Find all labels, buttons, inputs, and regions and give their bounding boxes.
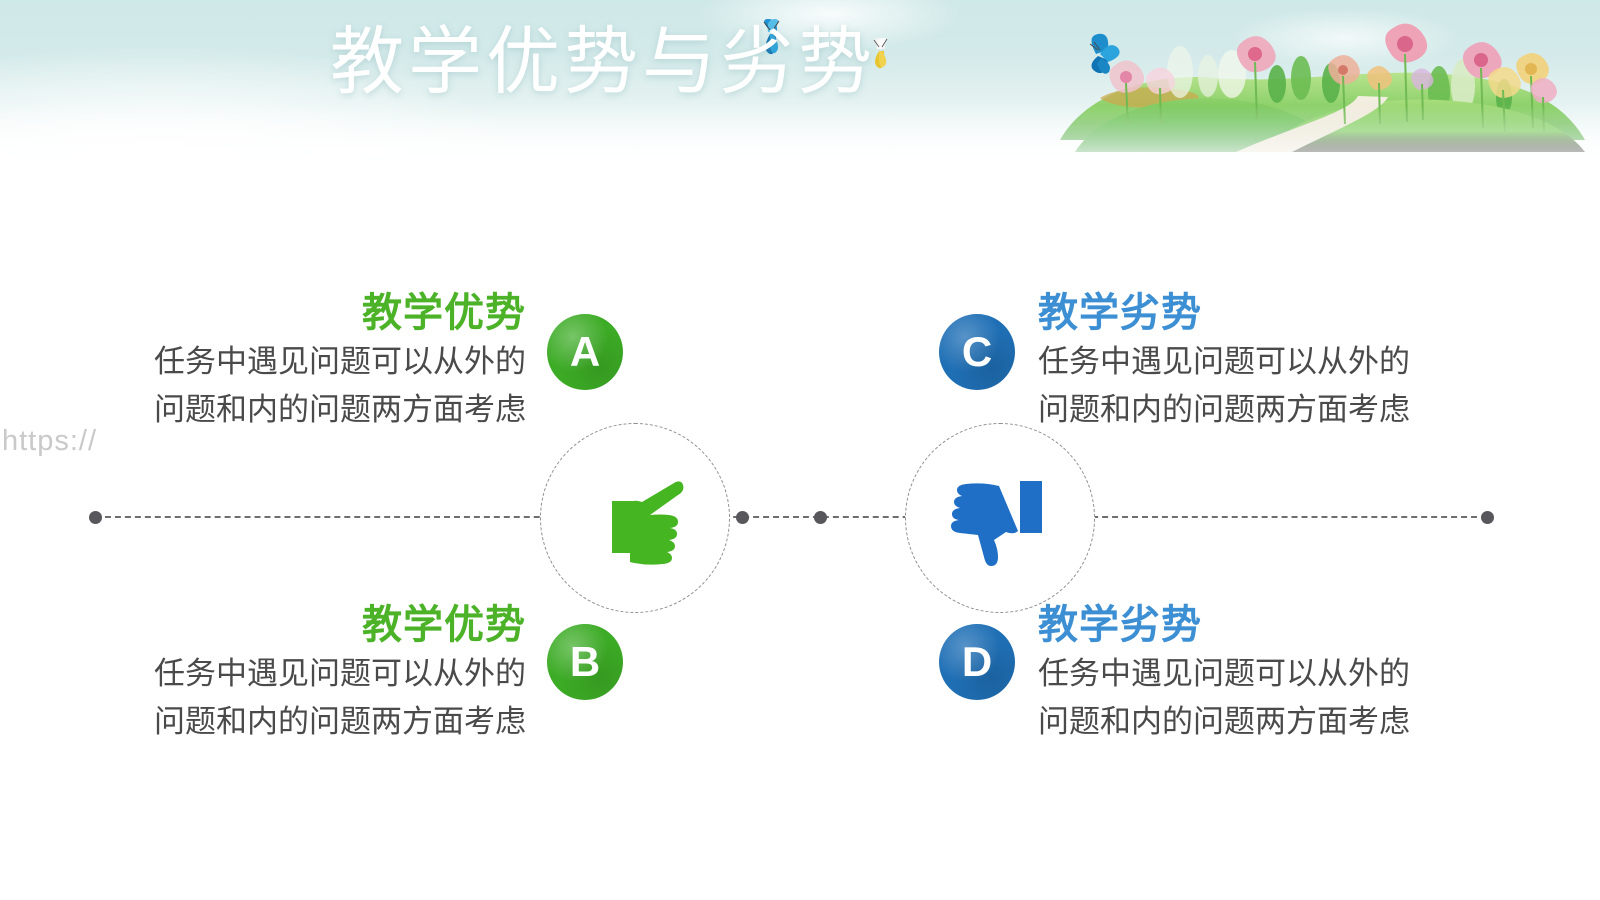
block-body-line: 任务中遇见问题可以从外的 [86,650,526,698]
block-disadvantage-d: 教学劣势 任务中遇见问题可以从外的 问题和内的问题两方面考虑 [1038,600,1478,746]
block-body-line: 问题和内的问题两方面考虑 [86,386,526,434]
block-advantage-a: 教学优势 任务中遇见问题可以从外的 问题和内的问题两方面考虑 [86,288,526,434]
block-heading: 教学劣势 [1038,600,1478,650]
badge-a[interactable]: A [547,314,623,390]
block-body-line: 任务中遇见问题可以从外的 [1038,338,1478,386]
block-heading: 教学优势 [86,600,526,650]
watermark-text: https:// [2,420,97,462]
badge-c[interactable]: C [939,314,1015,390]
block-disadvantage-c: 教学劣势 任务中遇见问题可以从外的 问题和内的问题两方面考虑 [1038,288,1478,434]
page-title: 教学优势与劣势 [330,16,930,108]
axis-end-dot-left [89,511,102,524]
block-body-line: 问题和内的问题两方面考虑 [86,698,526,746]
block-heading: 教学劣势 [1038,288,1478,338]
rainbow-icon [95,8,305,126]
thumbs-up-icon[interactable] [540,423,728,611]
axis-node-dot [736,511,749,524]
block-body-line: 任务中遇见问题可以从外的 [1038,650,1478,698]
badge-b[interactable]: B [547,624,623,700]
thumbs-down-icon[interactable] [905,423,1093,611]
timeline-axis [95,516,1487,518]
slide-canvas: 教学优势与劣势 https:// 教学优势 任务中遇见问题可以从外的 问题和内的… [0,0,1600,900]
axis-node-dot [814,511,827,524]
axis-end-dot-right [1481,511,1494,524]
block-body-line: 问题和内的问题两方面考虑 [1038,386,1478,434]
block-advantage-b: 教学优势 任务中遇见问题可以从外的 问题和内的问题两方面考虑 [86,600,526,746]
block-body-line: 问题和内的问题两方面考虑 [1038,698,1478,746]
block-body-line: 任务中遇见问题可以从外的 [86,338,526,386]
meadow-illustration [1040,0,1600,160]
badge-d[interactable]: D [939,624,1015,700]
block-heading: 教学优势 [86,288,526,338]
header-band: 教学优势与劣势 [0,0,1600,175]
